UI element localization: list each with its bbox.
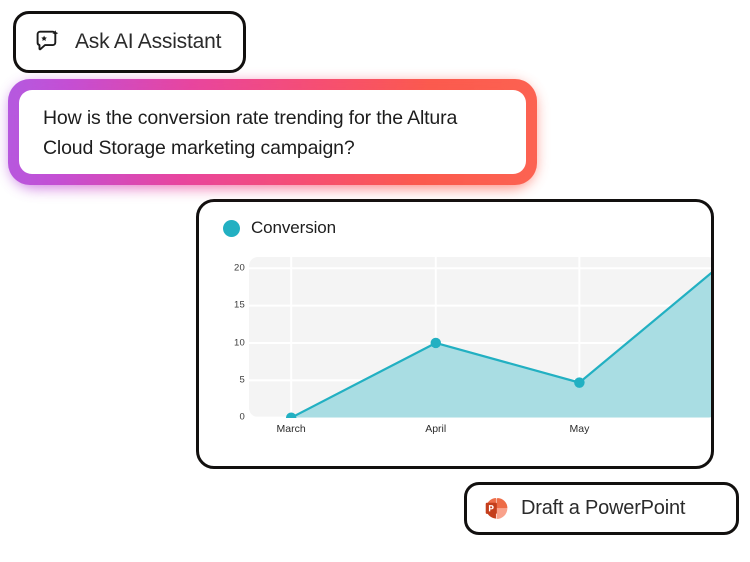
- y-tick-label: 20: [234, 263, 245, 274]
- legend-label: Conversion: [251, 218, 336, 238]
- ask-ai-assistant-label: Ask AI Assistant: [75, 30, 221, 54]
- x-tick-label: March: [277, 423, 306, 435]
- x-axis-tick-labels: March April May: [249, 419, 714, 439]
- y-tick-label: 0: [240, 412, 245, 423]
- prompt-text: How is the conversion rate trending for …: [43, 103, 504, 163]
- ai-chat-sparkle-icon: [34, 28, 62, 56]
- draft-powerpoint-button[interactable]: Draft a PowerPoint: [464, 482, 739, 535]
- chart-plot-area: 20 15 10 5 0: [223, 257, 714, 439]
- prompt-card-gradient-frame: How is the conversion rate trending for …: [8, 79, 537, 185]
- ask-ai-assistant-button[interactable]: Ask AI Assistant: [13, 11, 246, 73]
- chart-svg: [249, 257, 714, 418]
- data-point-march: [286, 412, 296, 417]
- x-tick-label: April: [425, 423, 446, 435]
- powerpoint-icon: [484, 496, 509, 521]
- legend-color-dot: [223, 220, 240, 237]
- y-tick-label: 10: [234, 337, 245, 348]
- chart-legend: Conversion: [223, 218, 336, 238]
- y-tick-label: 15: [234, 300, 245, 311]
- y-axis-tick-labels: 20 15 10 5 0: [223, 257, 245, 417]
- data-point-april: [431, 338, 441, 348]
- y-tick-label: 5: [240, 374, 245, 385]
- data-point-may: [574, 377, 584, 387]
- conversion-chart-card: Conversion 20 15 10 5 0: [196, 199, 714, 469]
- prompt-card[interactable]: How is the conversion rate trending for …: [19, 90, 526, 174]
- x-tick-label: May: [569, 423, 589, 435]
- draft-powerpoint-label: Draft a PowerPoint: [521, 497, 685, 520]
